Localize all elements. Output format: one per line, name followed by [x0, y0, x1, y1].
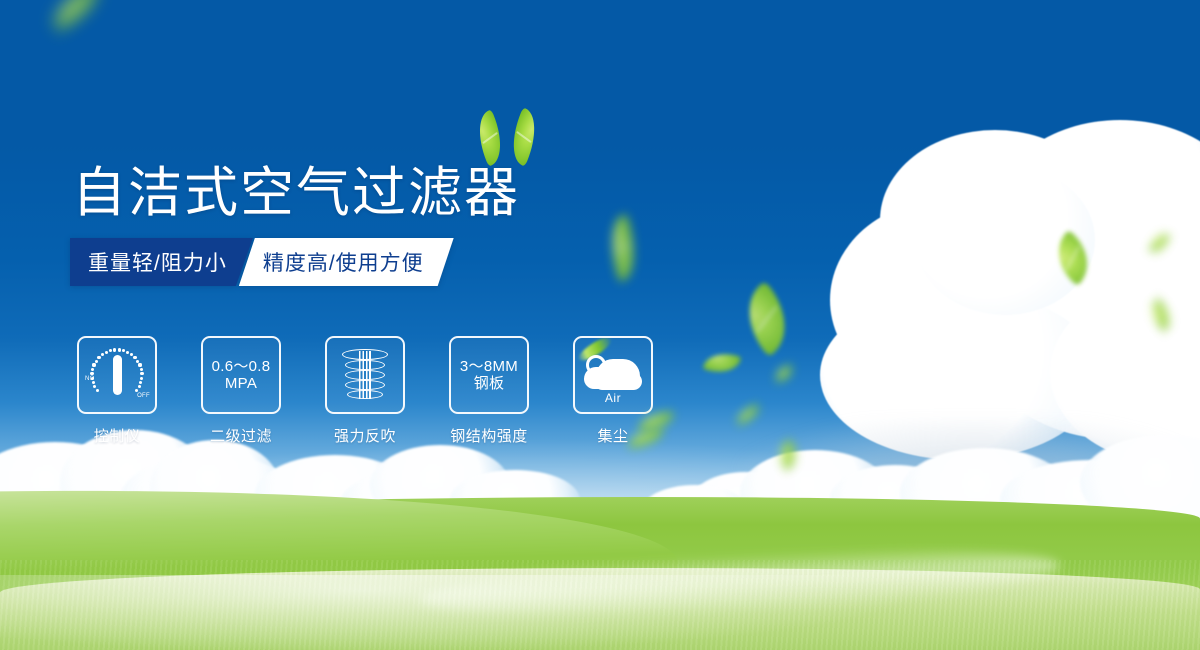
- gauge-off-label: OFF: [137, 393, 150, 399]
- steel-plate-text-icon: 3～8MM 钢板: [460, 358, 518, 393]
- feature-label: 钢结构强度: [450, 425, 528, 446]
- gauge-tick: [140, 372, 143, 375]
- gauge-tick: [101, 353, 104, 356]
- cumulus-cloud-right: [820, 120, 1200, 450]
- gauge-tick: [138, 385, 141, 388]
- page-title: 自洁式空气过滤器: [72, 148, 520, 227]
- gauge-tick: [133, 356, 136, 359]
- gauge-tick: [90, 372, 93, 375]
- gauge-tick: [122, 349, 125, 352]
- air-caption: Air: [582, 391, 644, 405]
- gauge-tick: [113, 348, 116, 351]
- gauge-tick: [97, 356, 100, 359]
- feature-icon-box: [325, 336, 405, 414]
- floating-leaf-icon: [774, 365, 794, 383]
- tagline-right: 精度高/使用方便: [239, 238, 454, 286]
- gauge-tick: [126, 351, 129, 354]
- feature-icon-box: 0.6～0.8 MPA: [201, 336, 281, 414]
- feature-label: 二级过滤: [210, 425, 272, 446]
- filter-coil-icon: [339, 347, 391, 403]
- gauge-tick: [91, 368, 94, 371]
- gauge-tick: [96, 389, 99, 392]
- gauge-icon: NO OFF: [87, 346, 147, 404]
- gauge-tick: [138, 363, 141, 366]
- meadow-sheen: [0, 575, 1200, 650]
- feature-list: NO OFF 控制仪 0.6～0.8 MPA 二级过滤: [76, 336, 654, 446]
- gauge-tick: [95, 360, 98, 363]
- feature-icon-box: NO OFF: [77, 336, 157, 414]
- gauge-tick: [118, 348, 121, 351]
- feature-item-two-stage-filter[interactable]: 0.6～0.8 MPA 二级过滤: [200, 336, 282, 446]
- gauge-tick: [105, 351, 108, 354]
- feature-item-controller[interactable]: NO OFF 控制仪: [76, 336, 158, 446]
- feature-label: 控制仪: [94, 425, 141, 446]
- feature-item-steel-strength[interactable]: 3～8MM 钢板 钢结构强度: [448, 336, 530, 446]
- tagline-badge: 重量轻/阻力小 精度高/使用方便: [70, 238, 454, 286]
- pressure-text-icon: 0.6～0.8 MPA: [212, 358, 271, 393]
- gauge-tick: [109, 349, 112, 352]
- air-cloud-icon: Air: [582, 347, 644, 403]
- gauge-tick: [136, 360, 139, 363]
- gauge-tick: [135, 389, 138, 392]
- gauge-tick: [92, 363, 95, 366]
- gauge-tick: [140, 377, 143, 380]
- gauge-tick: [140, 368, 143, 371]
- gauge-on-label: NO: [85, 376, 95, 382]
- feature-label: 集尘: [597, 425, 628, 446]
- feature-icon-box: Air: [573, 336, 653, 414]
- tagline-left: 重量轻/阻力小: [70, 238, 253, 286]
- feature-label: 强力反吹: [334, 425, 396, 446]
- gauge-tick: [139, 381, 142, 384]
- gauge-tick: [93, 385, 96, 388]
- product-banner: 自洁式空气过滤器 重量轻/阻力小 精度高/使用方便 NO OFF 控制仪 0.6…: [0, 0, 1200, 650]
- feature-icon-box: 3～8MM 钢板: [449, 336, 529, 414]
- feature-item-backblow[interactable]: 强力反吹: [324, 336, 406, 446]
